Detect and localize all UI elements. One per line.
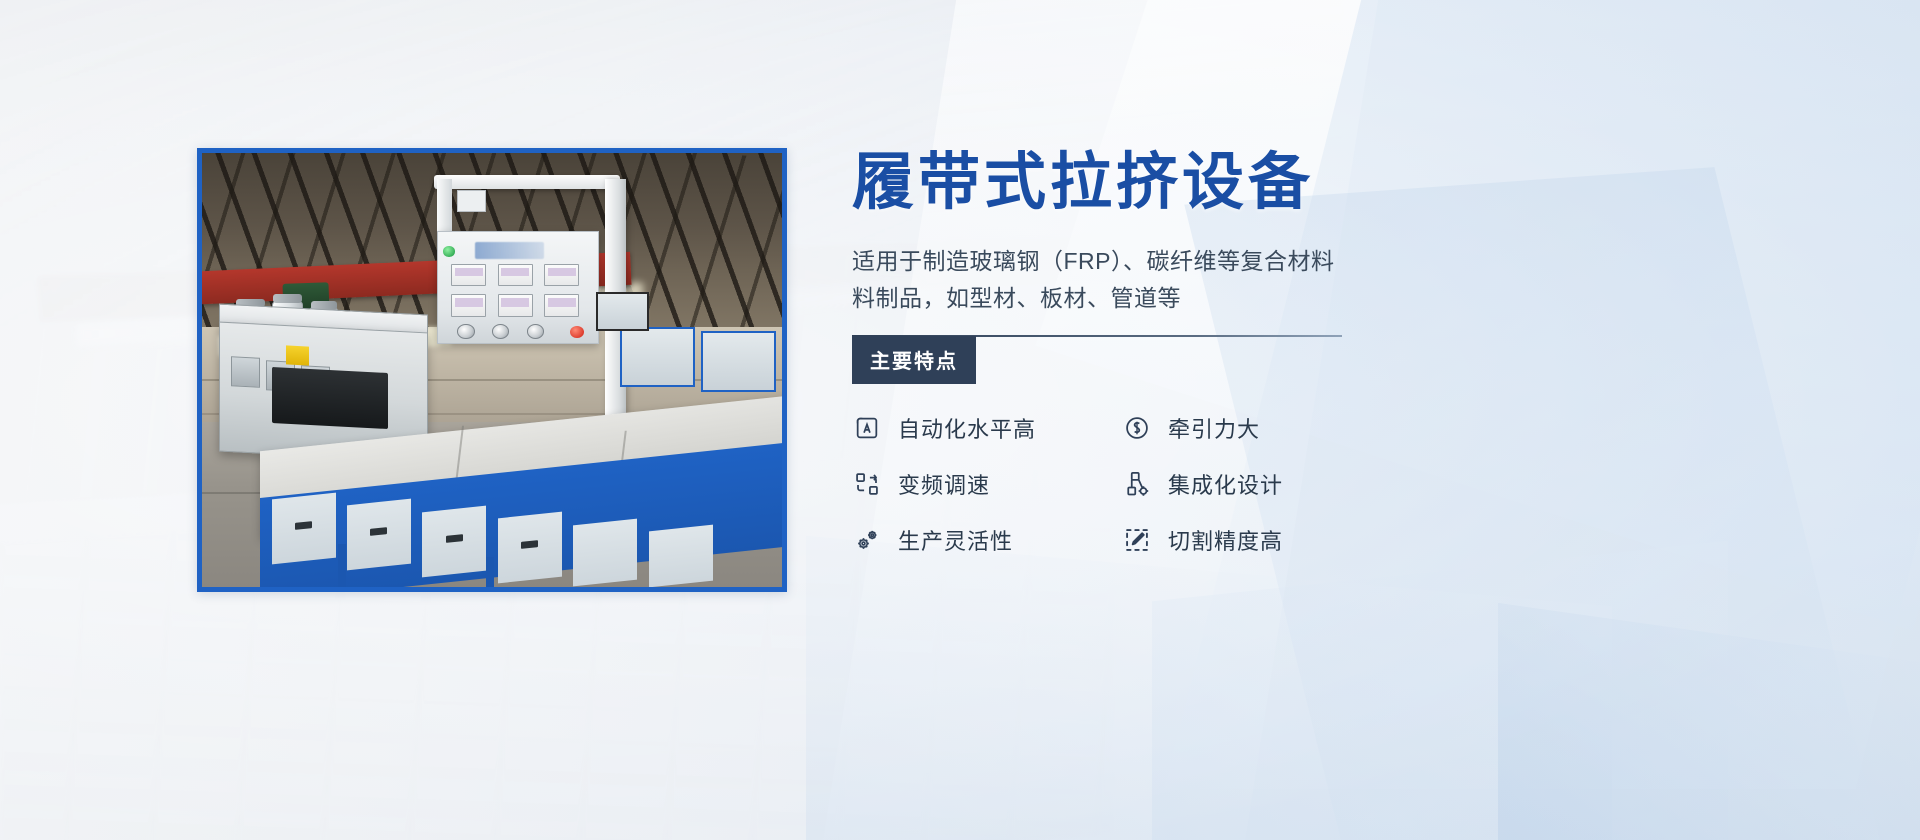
feature-item-traction[interactable]: 牵引力大: [1122, 412, 1392, 444]
gears-icon: [852, 525, 882, 555]
feature-label: 牵引力大: [1168, 412, 1260, 444]
feature-item-integration[interactable]: 集成化设计: [1122, 468, 1392, 500]
banner-content: 履带式拉挤设备 适用于制造玻璃钢（FRP）、碳纤维等复合材料料制品，如型材、板材…: [852, 150, 1412, 556]
feature-item-cutting-precision[interactable]: 切割精度高: [1122, 524, 1392, 556]
feature-label: 切割精度高: [1168, 524, 1283, 556]
feature-item-flexibility[interactable]: 生产灵活性: [852, 524, 1122, 556]
integration-nodes-icon: [1122, 469, 1152, 499]
feature-list: 自动化水平高 牵引力大: [852, 412, 1412, 556]
precision-pencil-icon: [1122, 525, 1152, 555]
letter-a-box-icon: [852, 413, 882, 443]
page-title: 履带式拉挤设备: [852, 150, 1412, 217]
feature-item-vfd[interactable]: 变频调速: [852, 468, 1122, 500]
feature-item-automation[interactable]: 自动化水平高: [852, 412, 1122, 444]
traction-wave-circle-icon: [1122, 413, 1152, 443]
feature-label: 变频调速: [898, 468, 990, 500]
status-badge: 主要特点: [852, 336, 976, 384]
feature-label: 自动化水平高: [898, 412, 1036, 444]
product-description: 适用于制造玻璃钢（FRP）、碳纤维等复合材料料制品，如型材、板材、管道等: [852, 243, 1342, 318]
feature-label: 集成化设计: [1168, 468, 1283, 500]
frequency-nodes-icon: [852, 469, 882, 499]
product-banner: 履带式拉挤设备 适用于制造玻璃钢（FRP）、碳纤维等复合材料料制品，如型材、板材…: [0, 0, 1920, 840]
product-photo: [197, 148, 787, 592]
feature-label: 生产灵活性: [898, 524, 1013, 556]
